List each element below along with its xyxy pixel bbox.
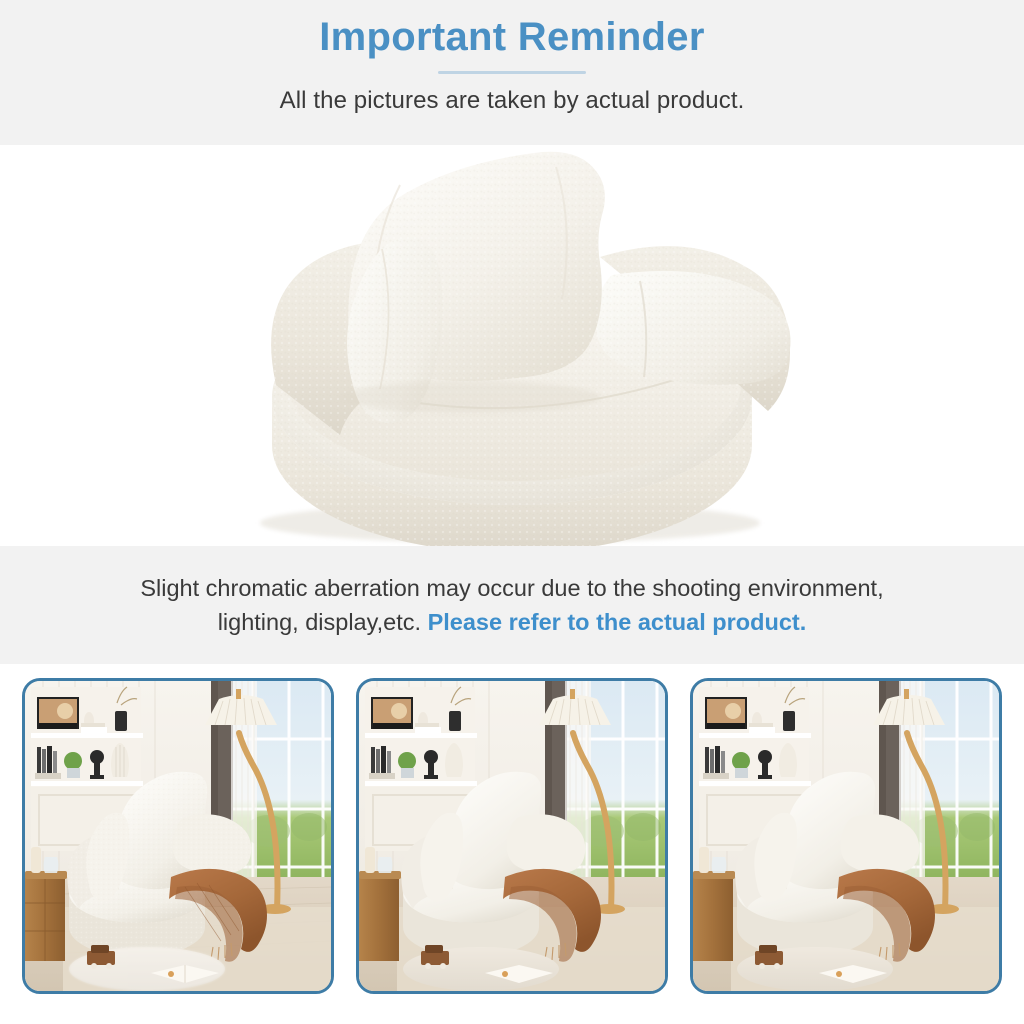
hero-product-image — [0, 145, 1024, 546]
living-room-scene-2 — [359, 681, 665, 991]
living-room-scene-1 — [25, 681, 331, 991]
product-reminder-page: Important Reminder All the pictures are … — [0, 0, 1024, 1024]
header-subtitle: All the pictures are taken by actual pro… — [280, 87, 745, 115]
disclaimer-band: Slight chromatic aberration may occur du… — [0, 546, 1024, 664]
thumbnail-3[interactable] — [690, 678, 1002, 994]
disclaimer-line-2: lighting, display,etc. Please refer to t… — [218, 605, 807, 639]
thumbnail-1[interactable] — [22, 678, 334, 994]
boucle-chair-illustration — [0, 145, 1024, 546]
thumbnail-2[interactable] — [356, 678, 668, 994]
thumbnail-strip — [0, 664, 1024, 1024]
disclaimer-highlight: Please refer to the actual product. — [428, 609, 807, 635]
disclaimer-line-2-plain: lighting, display,etc. — [218, 609, 421, 635]
disclaimer-line-1: Slight chromatic aberration may occur du… — [140, 571, 883, 605]
page-title: Important Reminder — [319, 14, 704, 60]
living-room-scene-3 — [693, 681, 999, 991]
header-band: Important Reminder All the pictures are … — [0, 0, 1024, 145]
title-divider-icon — [438, 71, 586, 74]
